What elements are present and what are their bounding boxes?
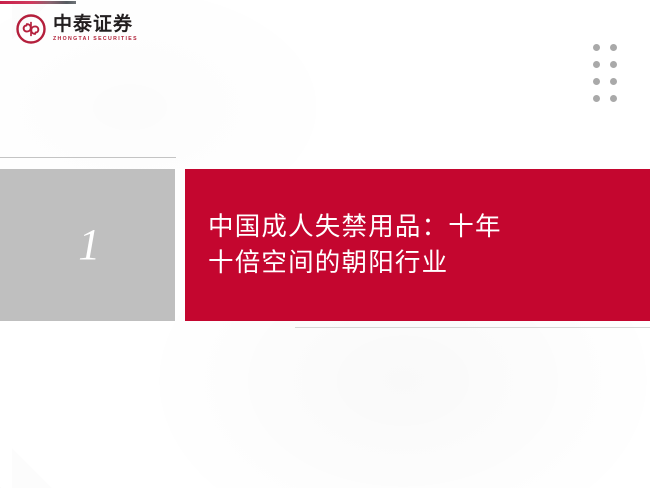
section-number-panel-inner: 1: [0, 169, 175, 321]
grid-dot-icon: [593, 78, 600, 85]
brand-name-en: ZHONGTAI SECURITIES: [53, 37, 138, 42]
top-accent-rule: [0, 1, 76, 4]
grid-dot-icon: [593, 95, 600, 102]
brand-logo-text: 中泰证券 ZHONGTAI SECURITIES: [53, 15, 138, 42]
presentation-slide: 中泰证券 ZHONGTAI SECURITIES 1 中国成人失禁用品：十年 十…: [0, 0, 650, 488]
section-number-panel: 1: [0, 169, 175, 321]
divider-below-title-banner: [295, 327, 650, 328]
grid-dot-icon: [610, 95, 617, 102]
grid-dot-icon: [593, 44, 600, 51]
grid-dot-icon: [610, 78, 617, 85]
grid-dot-icon: [610, 44, 617, 51]
brand-name-cn: 中泰证券: [53, 15, 138, 34]
brand-logo: 中泰证券 ZHONGTAI SECURITIES: [16, 14, 138, 44]
zhongtai-logo-icon: [16, 14, 46, 44]
divider-above-number-panel: [0, 157, 176, 158]
section-number: 1: [78, 223, 100, 267]
grid-dot-icon: [593, 61, 600, 68]
dot-grid-decoration: [593, 44, 617, 102]
grid-dot-icon: [610, 61, 617, 68]
section-title-banner: 中国成人失禁用品：十年 十倍空间的朝阳行业: [185, 169, 650, 321]
section-title: 中国成人失禁用品：十年 十倍空间的朝阳行业: [185, 209, 502, 281]
